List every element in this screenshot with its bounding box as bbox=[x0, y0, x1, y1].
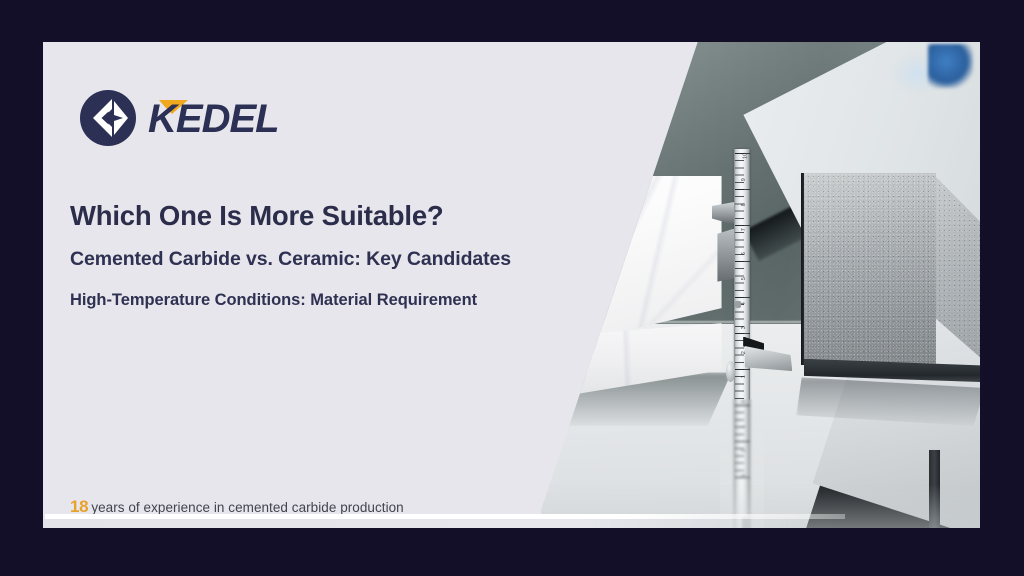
carbide-block bbox=[804, 173, 980, 397]
caliper-slider bbox=[717, 229, 734, 282]
brand-logo: KEDEL bbox=[79, 89, 316, 147]
caliper-scale-number: 8 bbox=[742, 203, 748, 206]
slide-content: KEDEL Which One Is More Suitable? Cement… bbox=[43, 42, 603, 528]
subtitle-secondary: High-Temperature Conditions: Material Re… bbox=[70, 291, 477, 310]
presentation-stage: 10 9 8 7 6 5 4 3 2 1 0 1 2 3 bbox=[0, 0, 1024, 576]
slide-canvas: 10 9 8 7 6 5 4 3 2 1 0 1 2 3 bbox=[43, 42, 980, 528]
carbide-block-side-face bbox=[932, 173, 980, 365]
carbide-block-front-face bbox=[804, 173, 936, 365]
caliper-scale-number: 1 bbox=[742, 376, 748, 379]
caliper-scale-number: 9 bbox=[742, 179, 748, 182]
caliper-scale-number: 5 bbox=[742, 277, 748, 280]
subtitle-primary: Cemented Carbide vs. Ceramic: Key Candid… bbox=[70, 248, 511, 271]
caliper-scale-number: 4 bbox=[742, 302, 748, 305]
kedel-circle-k-logo-icon bbox=[79, 89, 137, 147]
photo-blue-object bbox=[928, 44, 973, 88]
caliper-scale-number: 6 bbox=[742, 252, 748, 255]
caliper-scale-number: 10 bbox=[743, 152, 749, 158]
caliper-lock-screw bbox=[735, 301, 741, 309]
footer-tagline-text: years of experience in cemented carbide … bbox=[91, 500, 403, 515]
caliper-scale-number: 7 bbox=[742, 228, 748, 231]
page-title: Which One Is More Suitable? bbox=[70, 200, 444, 232]
brand-wordmark: KEDEL bbox=[148, 95, 316, 141]
caliper-scale-number: 3 bbox=[742, 326, 748, 329]
footer-band bbox=[43, 519, 803, 528]
vernier-caliper: 10 9 8 7 6 5 4 3 2 1 0 1 2 3 bbox=[724, 149, 761, 528]
caliper-thumb-wheel bbox=[726, 361, 736, 382]
svg-text:KEDEL: KEDEL bbox=[148, 97, 279, 141]
carbide-block-base-shadow bbox=[804, 359, 980, 386]
